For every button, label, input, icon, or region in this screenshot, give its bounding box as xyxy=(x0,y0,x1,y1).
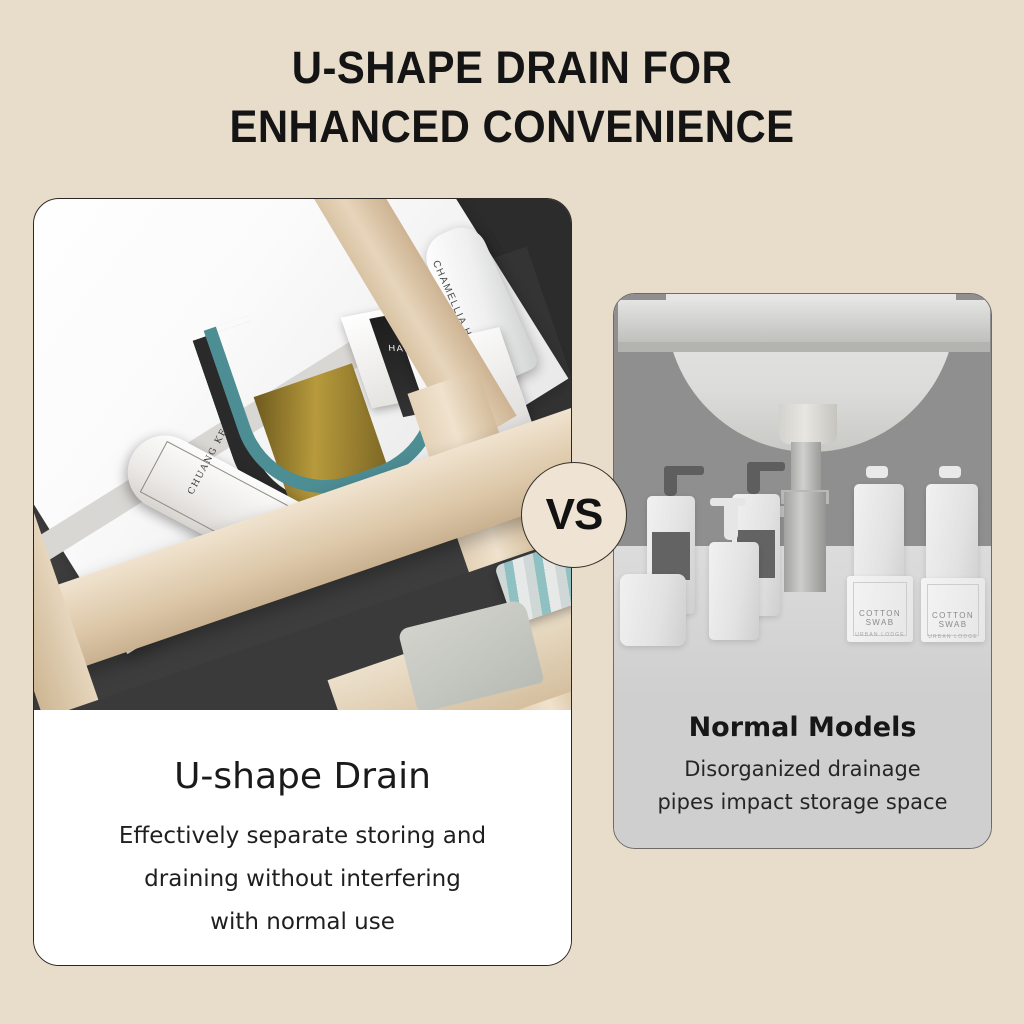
right-caption-title: Normal Models xyxy=(614,712,991,743)
sink-lip-shadow xyxy=(618,342,990,352)
cotton-swab-jar-1-subtext: URBAN LODGE xyxy=(854,632,906,638)
drain-neck xyxy=(779,404,837,444)
page-title-line-2: ENHANCED CONVENIENCE xyxy=(36,97,988,156)
pump-head-4 xyxy=(866,466,888,478)
pump-stem-1 xyxy=(664,466,677,496)
right-caption-body-line-2: pipes impact storage space xyxy=(614,786,991,819)
page-title: U-SHAPE DRAIN FOR ENHANCED CONVENIENCE xyxy=(36,38,988,156)
left-caption-body-line-1: Effectively separate storing and xyxy=(66,815,539,858)
cotton-swab-jar-2: COTTON SWAB URBAN LODGE xyxy=(921,578,985,642)
cotton-pad-canister xyxy=(620,574,686,646)
right-caption-body-line-1: Disorganized drainage xyxy=(614,753,991,786)
right-caption-block: Normal Models Disorganized drainage pipe… xyxy=(614,690,991,849)
left-caption-body-line-3: with normal use xyxy=(66,901,539,944)
vs-badge-label: VS xyxy=(546,490,603,540)
vs-badge: VS xyxy=(521,462,627,568)
cotton-swab-jar-2-text: COTTON SWAB xyxy=(928,611,978,629)
page-title-line-1: U-SHAPE DRAIN FOR xyxy=(292,42,732,93)
pump-head-5 xyxy=(939,466,961,478)
cotton-swab-jar-1-label: COTTON SWAB URBAN LODGE xyxy=(853,582,907,636)
left-caption-block: U-shape Drain Effectively separate stori… xyxy=(34,710,571,965)
left-caption-body-line-2: draining without interfering xyxy=(66,858,539,901)
cotton-swab-jar-2-subtext: URBAN LODGE xyxy=(928,634,978,640)
sink-rim xyxy=(618,300,990,344)
drain-pipe-lower xyxy=(784,492,826,592)
comparison-card-right: COTTON SWAB URBAN LODGE COTTON SWAB URBA… xyxy=(613,293,992,849)
right-caption-body: Disorganized drainage pipes impact stora… xyxy=(614,753,991,819)
comparison-card-left: CHAMELLIA HYDRO HANLU CHUANG KE U-shape … xyxy=(33,198,572,966)
left-caption-body: Effectively separate storing and drainin… xyxy=(34,815,571,944)
soap-bottle-1-label xyxy=(652,532,690,580)
cotton-swab-jar-1: COTTON SWAB URBAN LODGE xyxy=(847,576,913,642)
left-product-photo: CHAMELLIA HYDRO HANLU CHUANG KE xyxy=(34,199,571,710)
lotion-dispenser xyxy=(709,542,759,640)
left-caption-title: U-shape Drain xyxy=(34,756,571,797)
cotton-swab-jar-1-text: COTTON SWAB xyxy=(854,609,906,627)
right-product-photo: COTTON SWAB URBAN LODGE COTTON SWAB URBA… xyxy=(614,294,991,690)
pump-stem-3 xyxy=(724,498,738,540)
pump-stem-2 xyxy=(747,462,760,494)
cotton-swab-jar-2-label: COTTON SWAB URBAN LODGE xyxy=(927,584,979,636)
